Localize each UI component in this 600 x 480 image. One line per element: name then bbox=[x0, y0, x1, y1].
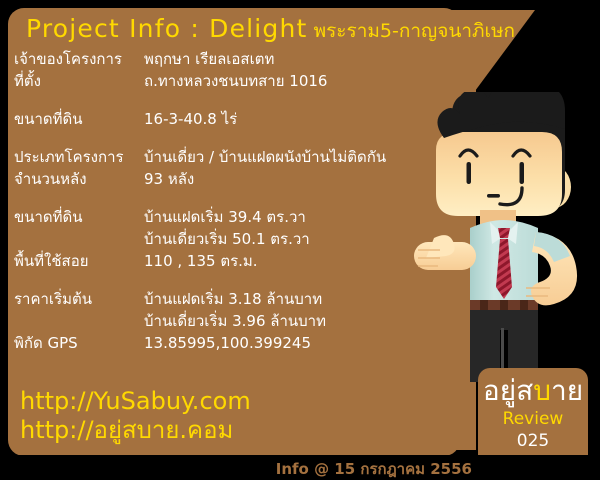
table-row: พื้นที่ใช้สอย 110 , 135 ตร.ม. bbox=[14, 250, 434, 272]
row-value: 110 , 135 ตร.ม. bbox=[144, 250, 258, 272]
row-value: 16-3-40.8 ไร่ bbox=[144, 108, 237, 130]
row-value: 13.85995,100.399245 bbox=[144, 332, 311, 354]
brand-suffix: าย bbox=[551, 374, 583, 407]
row-label: พื้นที่ใช้สอย bbox=[14, 250, 144, 272]
mascot-pointing-arm bbox=[414, 235, 476, 270]
footer-bar: Info @ 15 กรกฎาคม 2556 bbox=[0, 455, 600, 480]
row-label: จำนวนหลัง bbox=[14, 168, 144, 190]
table-row: จำนวนหลัง 93 หลัง bbox=[14, 168, 434, 190]
row-value: บ้านเดี่ยวเริ่ม 3.96 ล้านบาท bbox=[144, 310, 326, 332]
table-row: เจ้าของโครงการ พฤกษา เรียลเอสเตท bbox=[14, 48, 434, 70]
info-group: เจ้าของโครงการ พฤกษา เรียลเอสเตท ที่ตั้ง… bbox=[14, 48, 434, 92]
mascot-tie-knot bbox=[498, 228, 510, 238]
table-row: บ้านเดี่ยวเริ่ม 3.96 ล้านบาท bbox=[14, 310, 434, 332]
page-title-en: Project Info : Delight bbox=[26, 14, 308, 43]
row-label: ขนาดที่ดิน bbox=[14, 108, 144, 130]
row-value: บ้านแฝดเริ่ม 39.4 ตร.วา bbox=[144, 206, 306, 228]
mascot-eye-right bbox=[520, 162, 525, 184]
page-title: Project Info : Delightพระราม5-กาญจนาภิเษ… bbox=[26, 14, 515, 46]
mascot-eye-left bbox=[467, 162, 472, 184]
footer-timestamp: Info @ 15 กรกฎาคม 2556 bbox=[276, 457, 472, 480]
link-yusabuy-thai[interactable]: http://อยู่สบาย.คอม bbox=[20, 416, 251, 445]
brand-highlight: บ bbox=[533, 374, 551, 407]
table-row: ที่ตั้ง ถ.ทางหลวงชนบทสาย 1016 bbox=[14, 70, 434, 92]
row-value: บ้านเดี่ยว / บ้านแฝดผนังบ้านไม่ติดกัน bbox=[144, 146, 386, 168]
row-value: บ้านเดี่ยวเริ่ม 50.1 ตร.วา bbox=[144, 228, 310, 250]
row-label: พิกัด GPS bbox=[14, 332, 144, 354]
row-value: ถ.ทางหลวงชนบทสาย 1016 bbox=[144, 70, 327, 92]
brand-logo-badge[interactable]: อยู่สบาย Review 025 bbox=[478, 368, 588, 468]
row-label: ราคาเริ่มต้น bbox=[14, 288, 144, 310]
row-value: 93 หลัง bbox=[144, 168, 194, 190]
row-label: ขนาดที่ดิน bbox=[14, 206, 144, 228]
info-table: เจ้าของโครงการ พฤกษา เรียลเอสเตท ที่ตั้ง… bbox=[14, 48, 434, 370]
row-value: บ้านแฝดเริ่ม 3.18 ล้านบาท bbox=[144, 288, 322, 310]
row-value: พฤกษา เรียลเอสเตท bbox=[144, 48, 274, 70]
info-group: ขนาดที่ดิน บ้านแฝดเริ่ม 39.4 ตร.วา บ้านเ… bbox=[14, 206, 434, 272]
mascot-nose bbox=[487, 194, 500, 198]
brand-prefix: อยู่ส bbox=[483, 374, 533, 407]
brand-name: อยู่สบาย bbox=[478, 374, 588, 408]
screenshot-canvas: Project Info : Delightพระราม5-กาญจนาภิเษ… bbox=[0, 0, 600, 480]
table-row: บ้านเดี่ยวเริ่ม 50.1 ตร.วา bbox=[14, 228, 434, 250]
review-number: 025 bbox=[478, 430, 588, 452]
info-group: ราคาเริ่มต้น บ้านแฝดเริ่ม 3.18 ล้านบาท บ… bbox=[14, 288, 434, 354]
table-row: ขนาดที่ดิน 16-3-40.8 ไร่ bbox=[14, 108, 434, 130]
page-title-th: พระราม5-กาญจนาภิเษก bbox=[314, 20, 515, 42]
table-row: ประเภทโครงการ บ้านเดี่ยว / บ้านแฝดผนังบ้… bbox=[14, 146, 434, 168]
review-label: Review bbox=[478, 408, 588, 430]
website-links: http://YuSabuy.com http://อยู่สบาย.คอม bbox=[20, 387, 251, 445]
row-label: ที่ตั้ง bbox=[14, 70, 144, 92]
info-group: ขนาดที่ดิน 16-3-40.8 ไร่ bbox=[14, 108, 434, 130]
mascot-illustration bbox=[408, 92, 600, 392]
table-row: ขนาดที่ดิน บ้านแฝดเริ่ม 39.4 ตร.วา bbox=[14, 206, 434, 228]
info-group: ประเภทโครงการ บ้านเดี่ยว / บ้านแฝดผนังบ้… bbox=[14, 146, 434, 190]
row-label: เจ้าของโครงการ bbox=[14, 48, 144, 70]
link-yusabuy-com[interactable]: http://YuSabuy.com bbox=[20, 387, 251, 416]
table-row: ราคาเริ่มต้น บ้านแฝดเริ่ม 3.18 ล้านบาท bbox=[14, 288, 434, 310]
table-row: พิกัด GPS 13.85995,100.399245 bbox=[14, 332, 434, 354]
row-label: ประเภทโครงการ bbox=[14, 146, 144, 168]
